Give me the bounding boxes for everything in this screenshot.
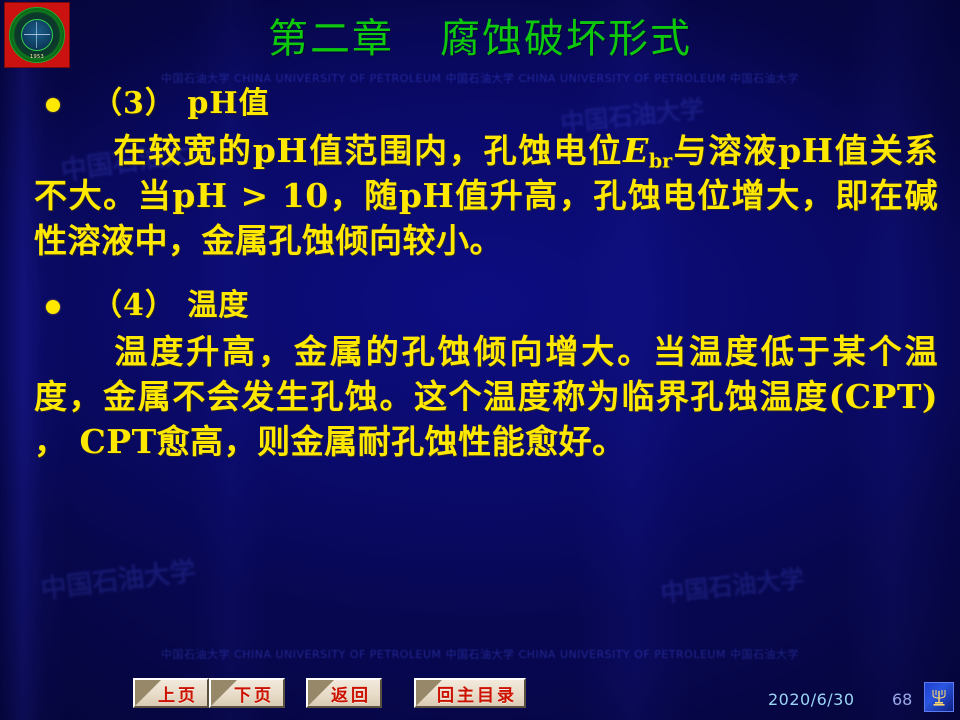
paragraph-ph-before: 在较宽的pH值范围内，孔蚀电位 (112, 131, 623, 170)
paragraph-spacer (0, 264, 960, 286)
paragraph-temperature-text: 温度升高，金属的孔蚀倾向增大。当温度低于某个温度，金属不会发生孔蚀。这个温度称为… (34, 332, 938, 461)
menorah-glyph (930, 687, 948, 707)
bullet-item-temperature: （4） 温度 (0, 286, 960, 327)
main-menu-label: 回主目录 (423, 681, 517, 706)
page-title: 第二章腐蚀破坏形式 (0, 6, 960, 64)
footer-date: 2020/6/30 (768, 690, 855, 709)
prev-page-label: 上页 (144, 681, 198, 706)
bullet-dot-icon (46, 98, 60, 112)
paragraph-ph: 在较宽的pH值范围内，孔蚀电位Ebr与溶液pH值关系不大。当pH > 10，随p… (0, 125, 960, 264)
prev-page-button[interactable]: 上页 (133, 678, 209, 708)
decorative-emblem-icon (924, 682, 954, 712)
symbol-e: E (623, 131, 649, 170)
next-page-label: 下页 (220, 681, 274, 706)
symbol-e-br: Ebr (623, 131, 672, 170)
next-page-button[interactable]: 下页 (209, 678, 285, 708)
footer-page-number: 68 (892, 690, 912, 709)
main-menu-button[interactable]: 回主目录 (414, 678, 526, 708)
bullet-dot-icon (46, 300, 60, 314)
paragraph-temperature: 温度升高，金属的孔蚀倾向增大。当温度低于某个温度，金属不会发生孔蚀。这个温度称为… (0, 326, 960, 465)
slide-canvas: 中国石油大学 中国石油大学 中国石油大学 中国石油大学 中国石油大学 CHINA… (0, 0, 960, 720)
page-title-subject: 腐蚀破坏形式 (440, 16, 692, 62)
bullet-label-temperature: （4） 温度 (92, 286, 249, 327)
bullet-label-ph: （3） pH值 (92, 84, 270, 125)
back-label: 返回 (317, 681, 371, 706)
page-title-chapter: 第二章 (268, 16, 394, 62)
symbol-subscript-br: br (649, 149, 672, 172)
bullet-item-ph: （3） pH值 (0, 84, 960, 125)
back-button[interactable]: 返回 (306, 678, 382, 708)
slide-content: （3） pH值 在较宽的pH值范围内，孔蚀电位Ebr与溶液pH值关系不大。当pH… (0, 84, 960, 465)
